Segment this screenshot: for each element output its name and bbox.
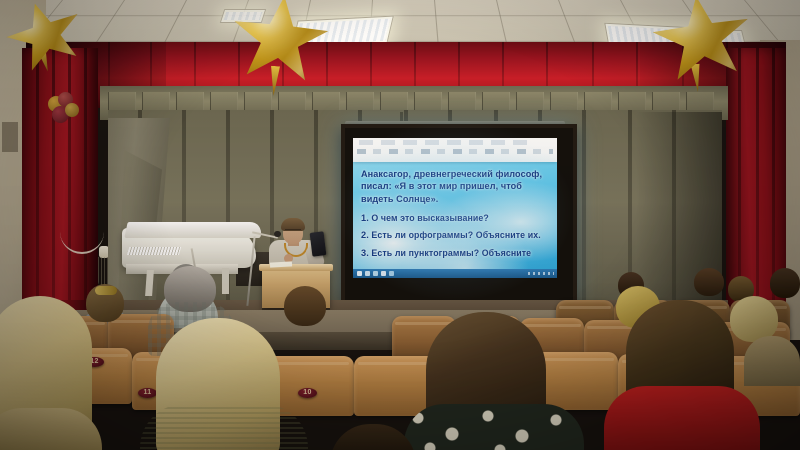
presenter-book [310, 231, 327, 257]
slide-question-1-number: 1. [361, 213, 369, 223]
balloon-cluster [48, 92, 84, 126]
presentation-slide: Анаксагор, древнегреческий философ, писа… [353, 138, 557, 278]
seat-number-11: 11 [138, 388, 157, 398]
taskbar-tray [528, 272, 554, 275]
slide-question-2-text: Есть ли орфограммы? Объясните их. [371, 230, 540, 240]
audience-foreground-head [330, 424, 416, 450]
slide-question-1: 1. О чем это высказывание? [361, 212, 551, 224]
slide-quote: Анаксагор, древнегреческий философ, писа… [361, 168, 551, 205]
ribbon-commands [357, 149, 553, 154]
slide-question-3-text: Есть ли пунктограммы? Объясните [371, 248, 531, 258]
audience-head [770, 268, 800, 298]
ribbon-tabs [359, 140, 527, 145]
audience-torso-green-knit [140, 404, 308, 450]
ceiling-light-panel [220, 9, 267, 23]
microphone-head [274, 231, 281, 237]
audience-torso-polkadot [404, 404, 584, 450]
piano-leg [222, 268, 229, 294]
slide-question-3: 3. Есть ли пунктограммы? Объясните [361, 247, 551, 259]
presenter-glasses [285, 229, 301, 234]
audience-torso-red [604, 386, 760, 450]
slide-question-2: 2. Есть ли орфограммы? Объясните их. [361, 229, 551, 241]
windows-taskbar [353, 269, 557, 278]
slide-text-block: Анаксагор, древнегреческий философ, писа… [361, 168, 551, 264]
powerpoint-ribbon [353, 138, 557, 162]
hair-ornament [95, 286, 117, 295]
photo-scene: Анаксагор, древнегреческий философ, писа… [0, 0, 800, 450]
piano-keys [127, 247, 181, 255]
piano-lid [124, 222, 263, 238]
audience-head [284, 286, 326, 326]
wall-frame [2, 122, 18, 152]
slide-question-3-number: 3. [361, 248, 369, 258]
audience-torso-right [744, 336, 800, 386]
seat-number-10: 10 [298, 388, 317, 398]
slide-question-1-text: О чем это высказывание? [371, 213, 488, 223]
slide-question-2-number: 2. [361, 230, 369, 240]
audience-head [694, 268, 724, 296]
theater-seat[interactable] [534, 352, 618, 410]
